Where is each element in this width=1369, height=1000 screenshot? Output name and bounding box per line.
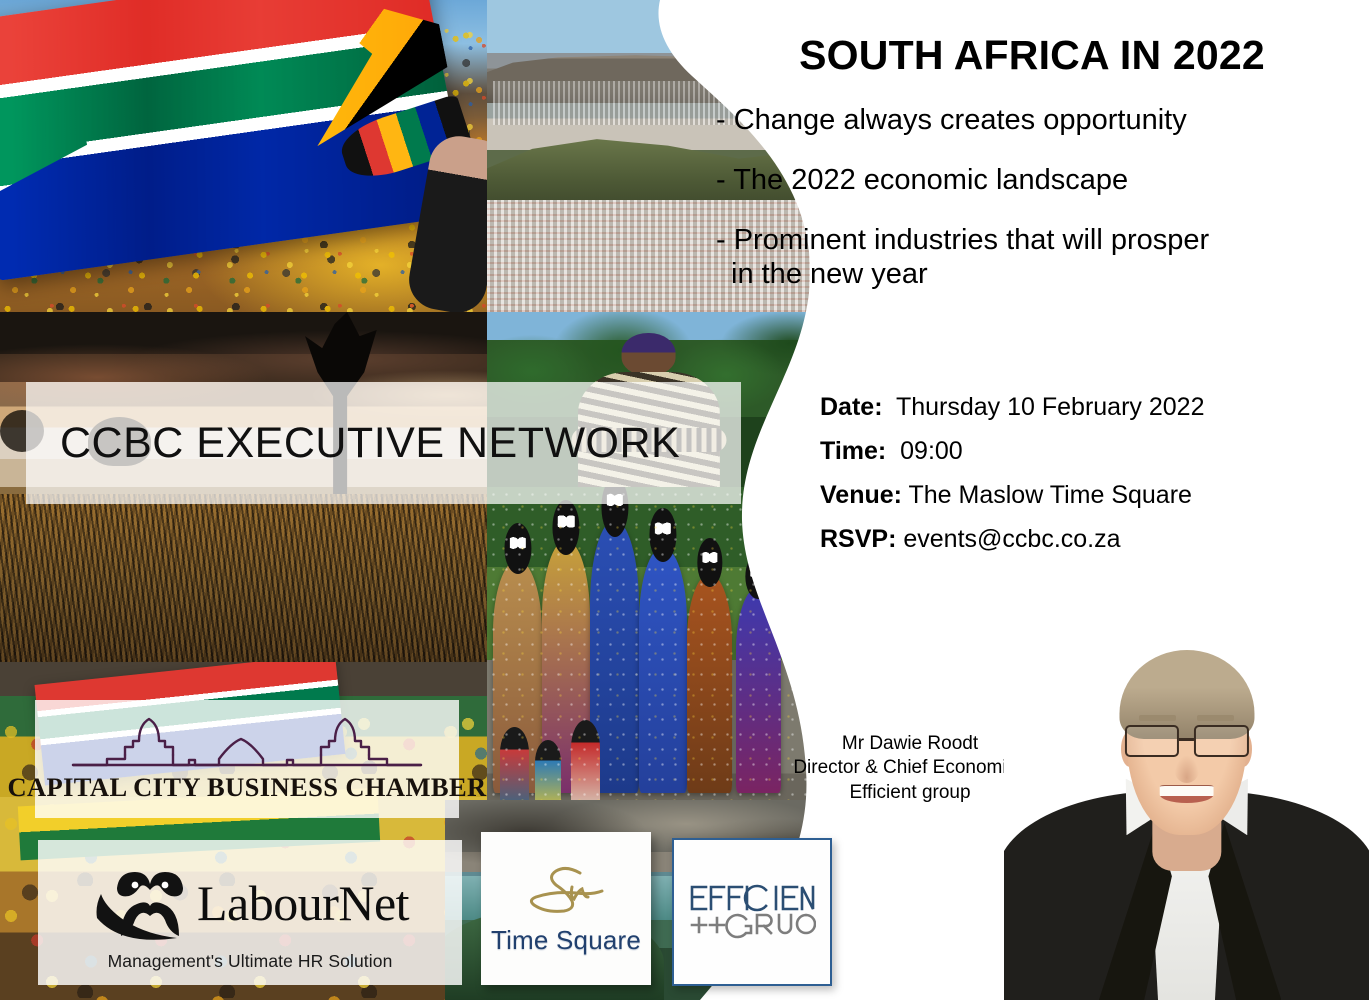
event-details: Date: Thursday 10 February 2022 Time: 09… — [820, 392, 1340, 568]
logo-labournet[interactable]: LabourNet Management's Ultimate HR Solut… — [38, 840, 462, 985]
detail-value: Thursday 10 February 2022 — [896, 393, 1205, 421]
agenda-list: - Change always creates opportunity - Th… — [716, 104, 1364, 318]
logo-ccbc-label: CAPITAL CITY BUSINESS CHAMBER — [7, 772, 486, 803]
efficient-plus-cross-icon — [688, 881, 816, 943]
detail-label: RSVP — [820, 525, 888, 553]
sa-flag-stadium-photo — [0, 0, 487, 312]
detail-separator: : — [878, 437, 886, 465]
detail-separator: : — [888, 525, 896, 553]
agenda-item: - Change always creates opportunity — [716, 104, 1364, 138]
detail-label: Venue — [820, 481, 894, 509]
detail-label: Time — [820, 437, 878, 465]
detail-value: 09:00 — [900, 437, 963, 465]
eyebrow-left — [1139, 715, 1176, 721]
detail-row-rsvp: RSVP: events@ccbc.co.za — [820, 524, 1340, 554]
union-buildings-skyline-icon — [69, 715, 425, 771]
golden-grass — [0, 494, 487, 662]
logo-efficient-group[interactable]: EFFICIENT GROUP — [672, 838, 832, 986]
logo-sun-time-square[interactable]: Time Square Sun — [481, 832, 651, 985]
sun-script-icon — [520, 861, 612, 923]
detail-row-time: Time: 09:00 — [820, 436, 1340, 466]
detail-separator: : — [894, 481, 902, 509]
network-banner-label: CCBC EXECUTIVE NETWORK — [26, 419, 680, 468]
speaker-photo: Mr Dawie Roodt headshot — [1004, 598, 1369, 1000]
agenda-item: - The 2022 economic landscape — [716, 164, 1364, 198]
ndebele-doll — [687, 574, 732, 794]
lens-right — [1194, 725, 1249, 757]
glasses-icon — [1124, 725, 1248, 757]
eyebrow-right — [1197, 715, 1234, 721]
rsvp-email[interactable]: events@ccbc.co.za — [903, 525, 1120, 553]
event-flyer: SOUTH AFRICA IN 2022 - Change always cre… — [0, 0, 1369, 1000]
smile — [1159, 785, 1214, 803]
detail-row-venue: Venue: The Maslow Time Square — [820, 480, 1340, 510]
detail-label: Date — [820, 393, 874, 421]
detail-value: The Maslow Time Square — [908, 481, 1191, 509]
logo-time-square-label: Time Square — [491, 925, 641, 956]
logo-capital-city-business-chamber[interactable]: CAPITAL CITY BUSINESS CHAMBER — [35, 700, 459, 818]
agenda-item: - Prominent industries that will prosper… — [716, 224, 1364, 292]
labournet-people-mark-icon — [91, 860, 209, 946]
detail-separator: : — [874, 393, 882, 421]
glasses-bridge — [1179, 738, 1194, 741]
logo-labournet-tagline: Management's Ultimate HR Solution — [108, 951, 393, 972]
lens-left — [1124, 725, 1179, 757]
nose — [1174, 755, 1200, 783]
woman-head — [621, 333, 676, 375]
logo-labournet-label: LabourNet — [197, 878, 409, 928]
ndebele-doll — [639, 547, 687, 793]
detail-row-date: Date: Thursday 10 February 2022 — [820, 392, 1340, 422]
network-banner: CCBC EXECUTIVE NETWORK — [26, 382, 741, 504]
page-title: SOUTH AFRICA IN 2022 — [712, 32, 1352, 79]
speaker-photo-alt: Mr Dawie Roodt headshot — [1004, 598, 1005, 599]
logo-labournet-row: LabourNet — [91, 860, 409, 946]
